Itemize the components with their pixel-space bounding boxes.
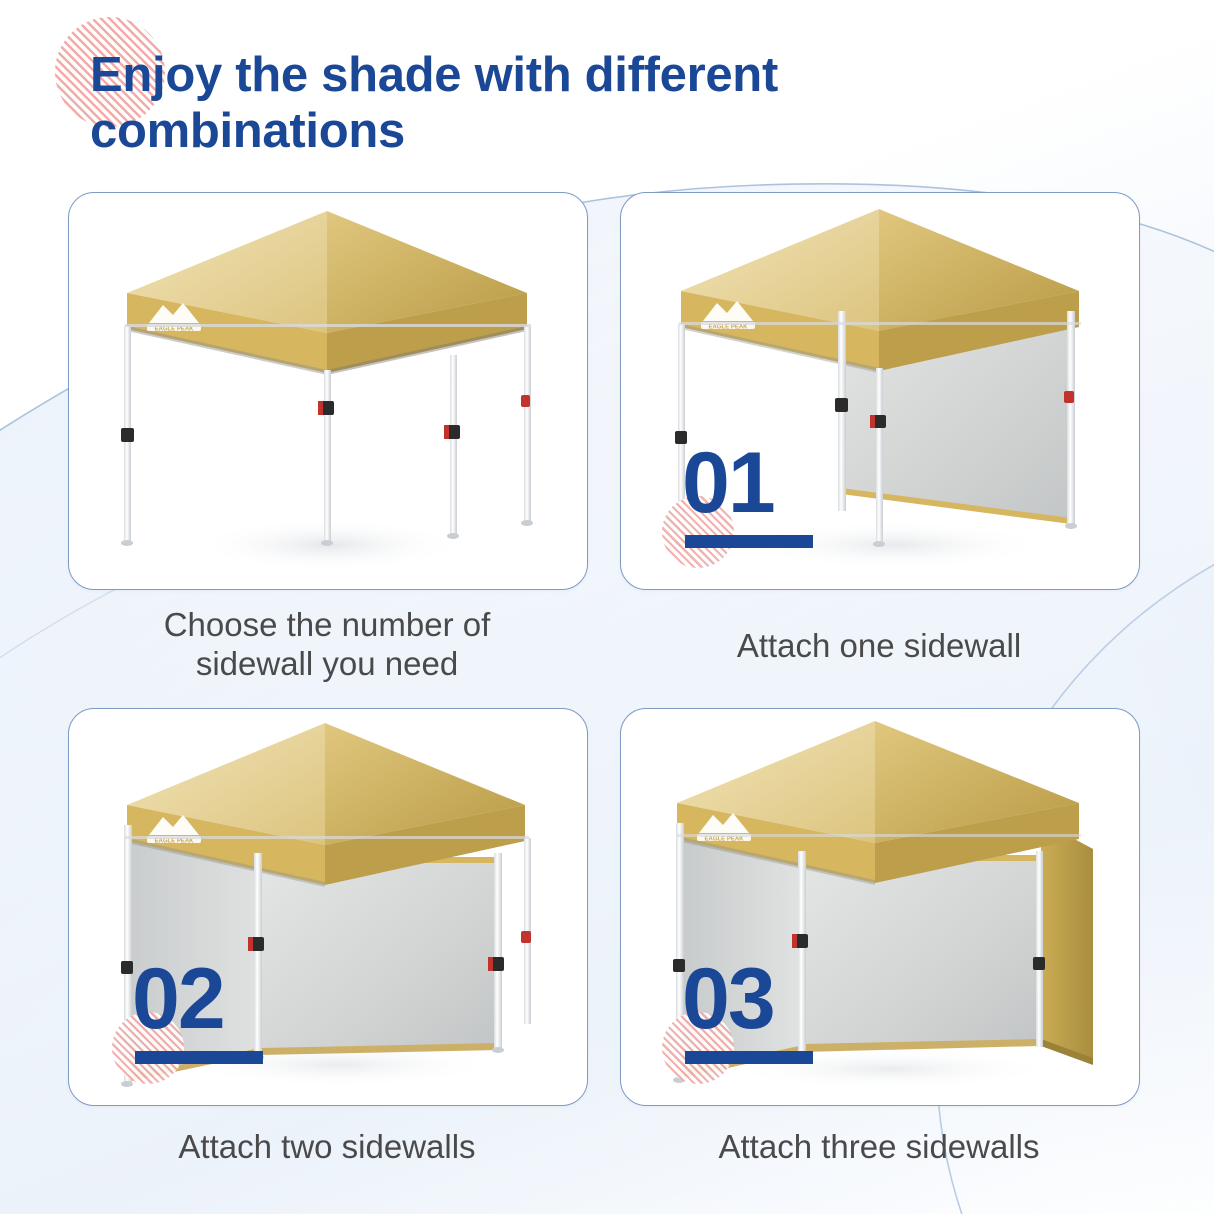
leg-foot-4 xyxy=(447,533,459,539)
tent-leg-right xyxy=(1036,851,1043,1047)
leg-foot-1 xyxy=(121,540,133,546)
step-badge-3: 03 xyxy=(660,956,850,1086)
leg-clip-4 xyxy=(521,931,531,943)
leg-foot-3 xyxy=(1065,523,1077,529)
leg-clip-accent-2 xyxy=(248,937,253,951)
frame-top-rail xyxy=(125,836,529,839)
badge-underline xyxy=(135,1051,263,1064)
leg-clip-4 xyxy=(1064,391,1074,403)
tent-leg-back-center xyxy=(450,355,457,535)
brand-logo-text: EAGLE PEAK xyxy=(154,839,194,845)
brand-logo-text: EAGLE PEAK xyxy=(704,837,744,843)
leg-clip-1 xyxy=(121,428,134,442)
leg-clip-4 xyxy=(521,395,530,407)
leg-foot-3 xyxy=(492,1047,504,1053)
panel-caption-3: Attach three sidewalls xyxy=(620,1128,1138,1167)
tent-leg-front-center xyxy=(876,368,883,544)
leg-foot-2 xyxy=(873,541,885,547)
badge-underline xyxy=(685,1051,813,1064)
badge-number: 03 xyxy=(682,956,774,1042)
tent-leg-back-right xyxy=(1067,311,1075,525)
sidewall-right-tan xyxy=(1041,821,1093,1064)
title-block: Enjoy the shade with different combinati… xyxy=(90,48,1090,160)
tent-leg-right xyxy=(494,853,502,1049)
leg-clip-3 xyxy=(1033,957,1045,970)
step-badge-1: 01 xyxy=(660,440,850,570)
panel-caption-1: Attach one sidewall xyxy=(620,627,1138,666)
frame-top-rail xyxy=(679,322,1081,325)
badge-underline xyxy=(685,535,813,548)
leg-foot-2 xyxy=(321,540,333,546)
frame-top-rail xyxy=(125,324,531,327)
brand-logo-text: EAGLE PEAK xyxy=(708,325,748,331)
panel-caption-2: Attach two sidewalls xyxy=(68,1128,586,1167)
brand-logo-text: EAGLE PEAK xyxy=(154,327,194,333)
badge-number: 02 xyxy=(132,956,224,1042)
step-badge-2: 02 xyxy=(110,956,300,1086)
panel-caption-0: Choose the number of sidewall you need xyxy=(68,606,586,684)
frame-top-rail xyxy=(677,834,1081,837)
leg-foot-3 xyxy=(521,520,533,526)
badge-number: 01 xyxy=(682,440,774,526)
leg-clip-accent-3 xyxy=(488,957,493,971)
page-title: Enjoy the shade with different combinati… xyxy=(90,48,1090,160)
tent-illustration-0: EAGLE PEAK xyxy=(69,193,587,589)
tent-leg-front-center xyxy=(324,370,331,542)
leg-clip-accent-3 xyxy=(870,415,875,428)
leg-clip-accent-3 xyxy=(444,425,449,439)
leg-clip-2 xyxy=(835,398,848,412)
leg-clip-accent-2 xyxy=(318,401,323,415)
tent-leg-back-right xyxy=(524,326,531,522)
panel-card-0: EAGLE PEAK xyxy=(68,192,588,590)
leg-clip-accent-2 xyxy=(792,934,797,948)
